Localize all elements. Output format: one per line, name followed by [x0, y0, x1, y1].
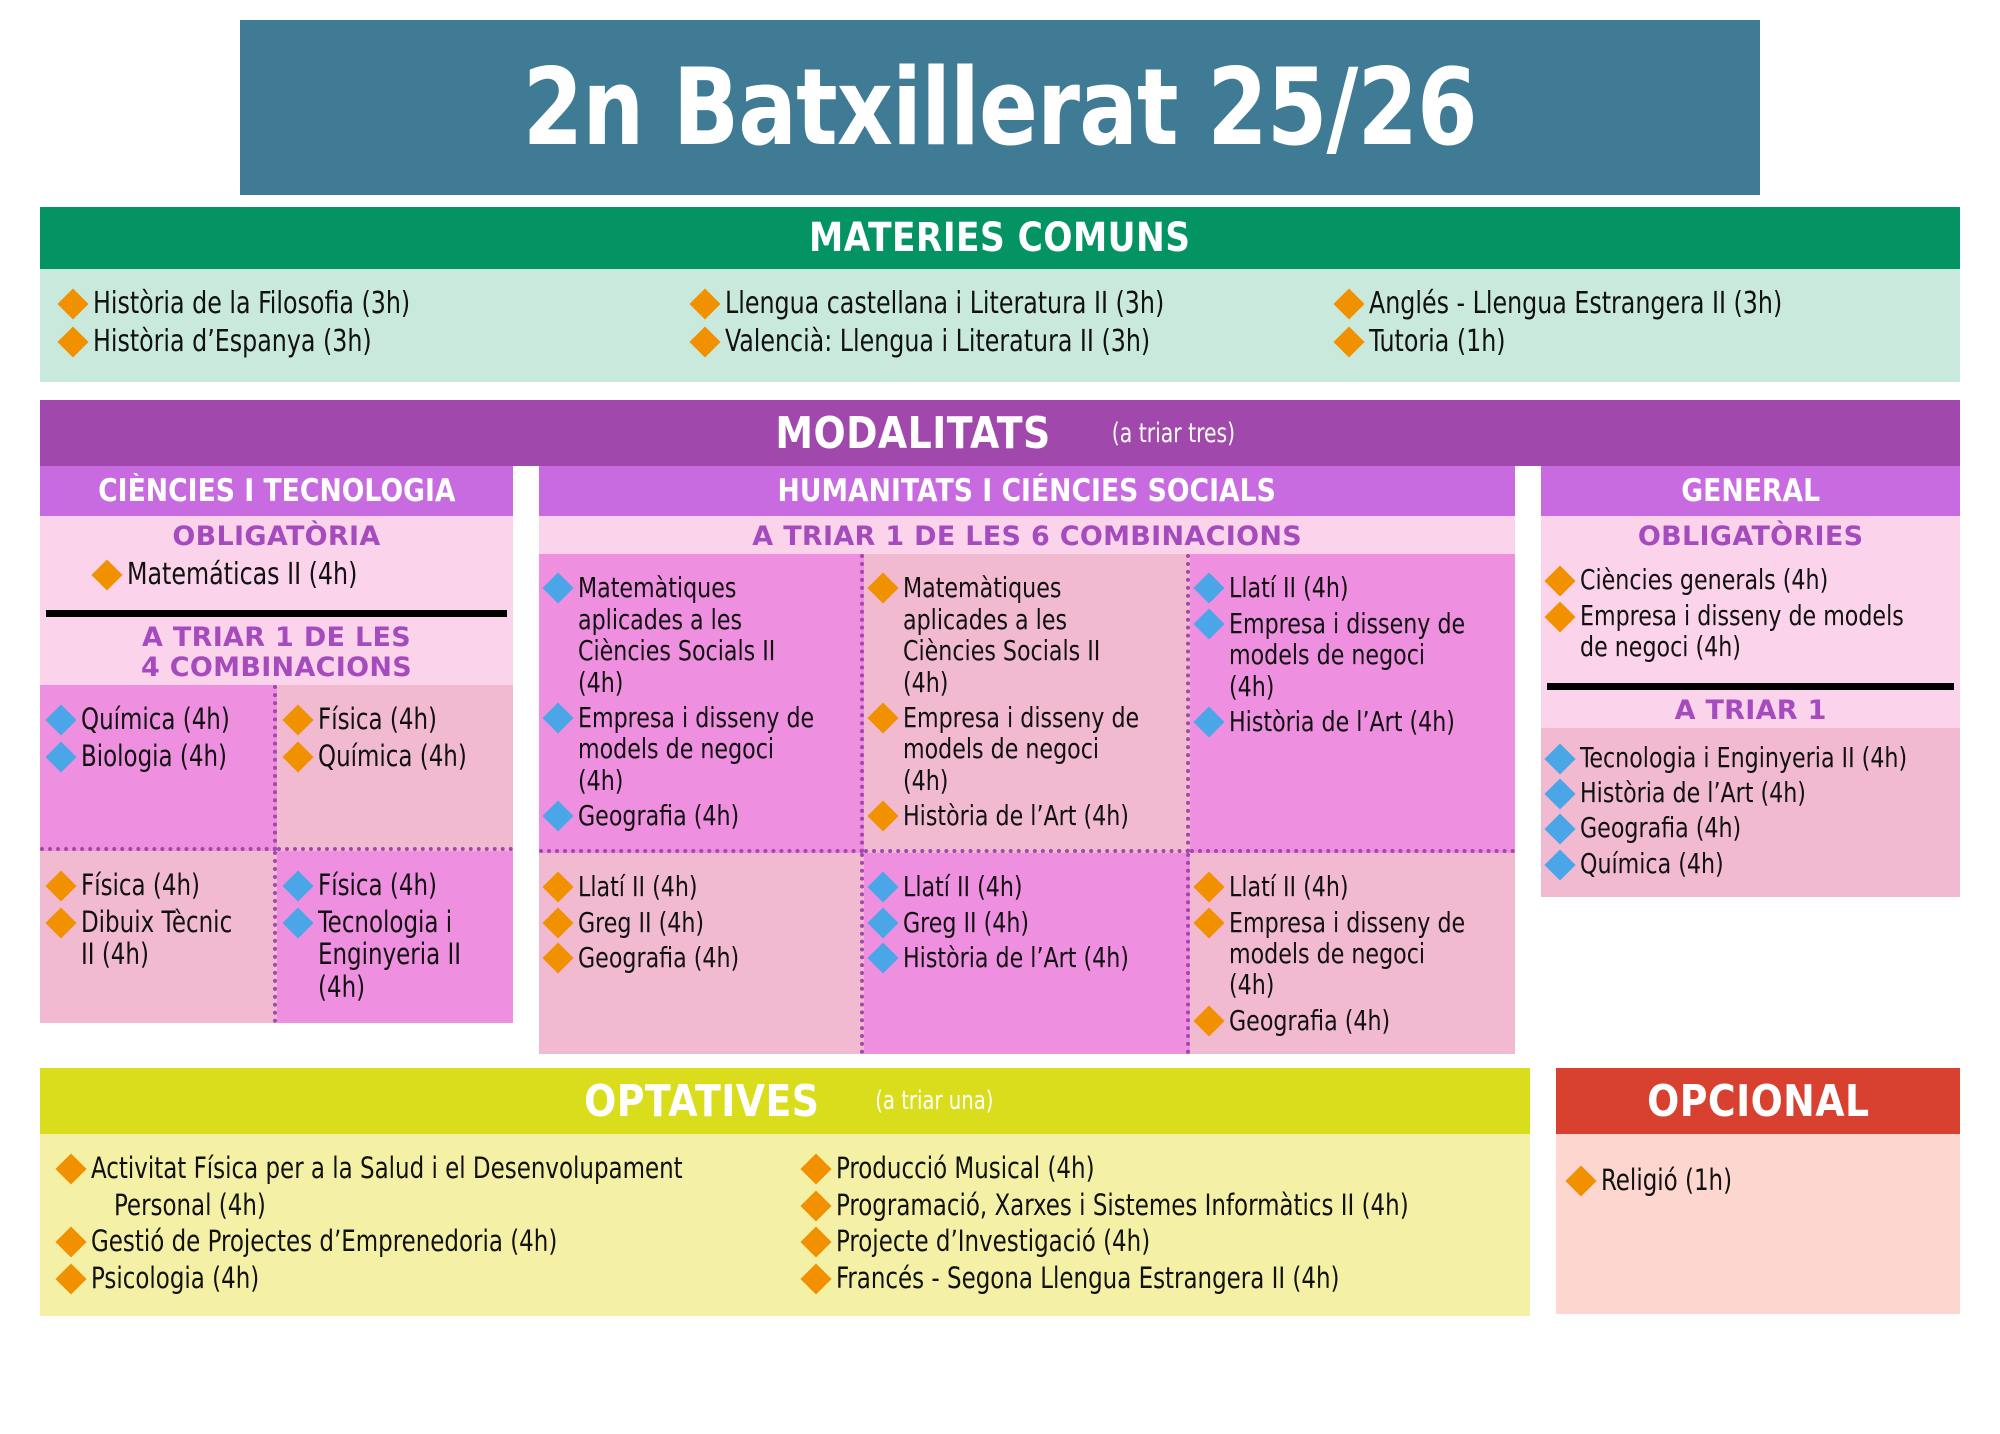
list-item: Història de l’Art (4h) [1198, 706, 1505, 737]
diamond-bullet-icon [868, 942, 899, 973]
diamond-bullet-icon [542, 702, 573, 733]
list-item: Biologia (4h) [50, 740, 265, 772]
list-item: Química (4h) [50, 703, 265, 735]
modalitats-columns: CIÈNCIES I TECNOLOGIA OBLIGATÒRIA Matemá… [40, 466, 1960, 1054]
subject-label: Tecnologia i Enginyeria II (4h) [318, 906, 483, 1003]
comuns-column-1: Història de la Filosofia (3h) Història d… [40, 283, 672, 362]
list-item[interactable]: Programació, Xarxes i Sistemes Informàti… [805, 1189, 1530, 1221]
optatives-box: OPTATIVES (a triar una) Activitat Física… [40, 1068, 1530, 1316]
diamond-bullet-icon [1193, 907, 1224, 938]
humanitats-pane: A TRIAR 1 DE LES 6 COMBINACIONS [539, 516, 1515, 554]
humanitats-heading: HUMANITATS I CIÉNCIES SOCIALS [778, 473, 1276, 509]
diamond-bullet-icon [1333, 326, 1364, 357]
subject-label: Física (4h) [318, 703, 437, 735]
optatives-column-1: Activitat Física per a la Salud i el Des… [40, 1148, 785, 1298]
optatives-banner: OPTATIVES (a triar una) [40, 1068, 1530, 1134]
diamond-bullet-icon [800, 1190, 831, 1221]
subject-label: Anglés - Llengua Estrangera II (3h) [1369, 287, 1782, 321]
general-heading: GENERAL [1681, 473, 1820, 509]
list-item: Matemàtiques aplicades a les Ciències So… [547, 572, 850, 697]
combination-cell[interactable]: Llatí II (4h) Greg II (4h) Història de l… [864, 853, 1189, 1054]
optatives-subtitle: (a triar una) [876, 1086, 994, 1116]
page-title-bar: 2n Batxillerat 25/26 [240, 20, 1760, 195]
humanitats-combinations-grid: Matemàtiques aplicades a les Ciències So… [539, 554, 1515, 1054]
diamond-bullet-icon [1193, 573, 1224, 604]
list-item: Història de la Filosofia (3h) [62, 287, 672, 321]
subject-label: Matemàtiques aplicades a les Ciències So… [578, 572, 818, 697]
diamond-bullet-icon [868, 800, 899, 831]
general-choices-list[interactable]: Tecnologia i Enginyeria II (4h) Història… [1541, 728, 1960, 897]
diamond-bullet-icon [800, 1263, 831, 1294]
subject-label: Història de l’Art (4h) [903, 800, 1129, 831]
diamond-bullet-icon [45, 741, 76, 772]
subject-label: Geografia (4h) [578, 800, 739, 831]
opcional-body: Religió (1h) [1556, 1134, 1960, 1314]
general-choose-label: A TRIAR 1 [1541, 690, 1960, 728]
diamond-bullet-icon [1545, 814, 1576, 845]
subject-label: Psicologia (4h) [91, 1262, 259, 1294]
modalitats-banner: MODALITATS (a triar tres) [40, 400, 1960, 466]
diamond-bullet-icon [45, 907, 76, 938]
diamond-bullet-icon [45, 871, 76, 902]
subject-label: Dibuix Tècnic II (4h) [81, 906, 242, 971]
diamond-bullet-icon [1545, 743, 1576, 774]
subject-label: Greg II (4h) [578, 907, 704, 938]
diamond-bullet-icon [282, 741, 313, 772]
subject-label: Biologia (4h) [81, 740, 227, 772]
list-item: Química (4h) [1549, 848, 1952, 879]
list-item: Química (4h) [287, 740, 506, 772]
subject-label: Empresa i disseny de models de negoci (4… [1229, 608, 1472, 702]
comuns-column-3: Anglés - Llengua Estrangera II (3h) Tuto… [1316, 283, 1960, 362]
general-obligatories-label: OBLIGATÒRIES [1541, 516, 1960, 554]
modalitats-subtitle: (a triar tres) [1111, 418, 1234, 449]
subject-label: Francés - Segona Llengua Estrangera II (… [836, 1262, 1339, 1294]
ciencies-obligatoria-list: Matemáticas II (4h) [40, 558, 513, 604]
list-item-continuation: Personal (4h) [60, 1189, 785, 1221]
diamond-bullet-icon [1545, 779, 1576, 810]
ciencies-choose-label: A TRIAR 1 DE LES 4 COMBINACIONS [40, 617, 513, 685]
column-humanitats-ciencies-socials: HUMANITATS I CIÉNCIES SOCIALS A TRIAR 1 … [539, 466, 1515, 1054]
list-item[interactable]: Gestió de Projectes d’Emprenedoria (4h) [60, 1225, 785, 1257]
choose-label-line-1: A TRIAR 1 DE LES [40, 623, 513, 653]
subject-label: Gestió de Projectes d’Emprenedoria (4h) [91, 1225, 557, 1257]
subject-label: Empresa i disseny de models de negoci (4… [1580, 600, 1907, 663]
diamond-bullet-icon [1545, 601, 1576, 632]
diamond-bullet-icon [1545, 566, 1576, 597]
subject-label: Valencià: Llengua i Literatura II (3h) [725, 325, 1150, 359]
comuns-column-2: Llengua castellana i Literatura II (3h) … [672, 283, 1316, 362]
subject-label: Programació, Xarxes i Sistemes Informàti… [836, 1189, 1409, 1221]
general-pane: OBLIGATÒRIES Ciències generals (4h) Empr… [1541, 516, 1960, 728]
diamond-bullet-icon [1193, 608, 1224, 639]
list-item: Empresa i disseny de models de negoci (4… [1198, 907, 1505, 1001]
subject-label: Geografia (4h) [1580, 812, 1741, 843]
list-item: Ciències generals (4h) [1549, 564, 1952, 595]
subject-label: Història de l’Art (4h) [1580, 777, 1806, 808]
list-item: Greg II (4h) [547, 907, 850, 938]
subject-label: Matemàtiques aplicades a les Ciències So… [903, 572, 1143, 697]
optatives-heading: OPTATIVES [584, 1076, 819, 1127]
combination-cell[interactable]: Matemàtiques aplicades a les Ciències So… [539, 554, 864, 853]
infographic-page: 2n Batxillerat 25/26 MATERIES COMUNS His… [0, 20, 2000, 1434]
ciencies-heading: CIÈNCIES I TECNOLOGIA [98, 473, 455, 509]
subject-label: Física (4h) [318, 869, 437, 901]
list-item[interactable]: Francés - Segona Llengua Estrangera II (… [805, 1262, 1530, 1294]
list-item: Llatí II (4h) [1198, 871, 1505, 902]
subject-label: Religió (1h) [1601, 1164, 1732, 1196]
subject-label: Història de l’Art (4h) [1229, 706, 1455, 737]
subject-label: Matemáticas II (4h) [127, 558, 357, 592]
ciencies-heading-bar: CIÈNCIES I TECNOLOGIA [40, 466, 513, 516]
list-item: Empresa i disseny de models de negoci (4… [1549, 600, 1952, 663]
subject-label: Activitat Física per a la Salud i el Des… [91, 1152, 683, 1184]
combination-cell[interactable]: Física (4h) Tecnologia i Enginyeria II (… [277, 851, 514, 1023]
list-item: Història de l’Art (4h) [1549, 777, 1952, 808]
opcional-banner: OPCIONAL [1556, 1068, 1960, 1134]
list-item: Anglés - Llengua Estrangera II (3h) [1338, 287, 1960, 321]
list-item[interactable]: Projecte d’Investigació (4h) [805, 1225, 1530, 1257]
subject-label: Geografia (4h) [1229, 1005, 1390, 1036]
combination-cell[interactable]: Física (4h) Dibuix Tècnic II (4h) [40, 851, 277, 1023]
subject-label: Projecte d’Investigació (4h) [836, 1225, 1150, 1257]
list-item: Tutoria (1h) [1338, 325, 1960, 359]
list-item: Història de l’Art (4h) [872, 800, 1175, 831]
diamond-bullet-icon [1193, 1005, 1224, 1036]
diamond-bullet-icon [542, 573, 573, 604]
list-item: Geografia (4h) [547, 942, 850, 973]
diamond-bullet-icon [868, 907, 899, 938]
divider [46, 610, 507, 617]
list-item: Llengua castellana i Literatura II (3h) [694, 287, 1316, 321]
list-item: Història de l’Art (4h) [872, 942, 1175, 973]
diamond-bullet-icon [1545, 849, 1576, 880]
list-item: Història d’Espanya (3h) [62, 325, 672, 359]
diamond-bullet-icon [1193, 872, 1224, 903]
subject-label: Història de la Filosofia (3h) [93, 287, 410, 321]
list-item: Llatí II (4h) [547, 871, 850, 902]
list-item: Física (4h) [287, 703, 506, 735]
list-item: Geografia (4h) [547, 800, 850, 831]
list-item: Dibuix Tècnic II (4h) [50, 906, 265, 971]
diamond-bullet-icon [55, 1263, 86, 1294]
subject-label: Geografia (4h) [578, 942, 739, 973]
list-item: Física (4h) [50, 869, 265, 901]
diamond-bullet-icon [868, 702, 899, 733]
diamond-bullet-icon [542, 907, 573, 938]
diamond-bullet-icon [282, 871, 313, 902]
ciencies-pane: OBLIGATÒRIA Matemáticas II (4h) A TRIAR … [40, 516, 513, 685]
subject-label: Llatí II (4h) [903, 871, 1023, 902]
diamond-bullet-icon [542, 872, 573, 903]
list-item: Tecnologia i Enginyeria II (4h) [287, 906, 506, 1003]
combination-cell[interactable]: Matemàtiques aplicades a les Ciències So… [864, 554, 1189, 853]
combination-cell[interactable]: Llatí II (4h) Empresa i disseny de model… [1190, 853, 1515, 1054]
subject-label: Tutoria (1h) [1369, 325, 1506, 359]
column-ciencies-tecnologia: CIÈNCIES I TECNOLOGIA OBLIGATÒRIA Matemá… [40, 466, 513, 1054]
diamond-bullet-icon [91, 560, 122, 591]
diamond-bullet-icon [1193, 706, 1224, 737]
diamond-bullet-icon [282, 705, 313, 736]
diamond-bullet-icon [800, 1226, 831, 1257]
diamond-bullet-icon [1565, 1166, 1596, 1197]
subject-label: Producció Musical (4h) [836, 1152, 1095, 1184]
bottom-row: OPTATIVES (a triar una) Activitat Física… [40, 1068, 1960, 1316]
diamond-bullet-icon [542, 800, 573, 831]
modalitats-heading: MODALITATS [776, 408, 1051, 459]
diamond-bullet-icon [689, 288, 720, 319]
list-item[interactable]: Psicologia (4h) [60, 1262, 785, 1294]
diamond-bullet-icon [282, 907, 313, 938]
diamond-bullet-icon [57, 326, 88, 357]
subject-label: Llatí II (4h) [578, 871, 698, 902]
list-item: Tecnologia i Enginyeria II (4h) [1549, 742, 1952, 773]
list-item: Greg II (4h) [872, 907, 1175, 938]
optatives-column-2: Producció Musical (4h) Programació, Xarx… [785, 1148, 1530, 1298]
diamond-bullet-icon [57, 288, 88, 319]
subject-label: Llatí II (4h) [1229, 572, 1349, 603]
list-item[interactable]: Activitat Física per a la Salud i el Des… [60, 1152, 785, 1184]
combination-cell[interactable]: Química (4h) Biologia (4h) [40, 685, 277, 851]
list-item[interactable]: Producció Musical (4h) [805, 1152, 1530, 1184]
column-general: GENERAL OBLIGATÒRIES Ciències generals (… [1541, 466, 1960, 1054]
combination-cell[interactable]: Física (4h) Química (4h) [277, 685, 514, 851]
subject-label: Empresa i disseny de models de negoci (4… [1229, 907, 1472, 1001]
subject-label: Química (4h) [1580, 848, 1724, 879]
list-item: Física (4h) [287, 869, 506, 901]
page-title: 2n Batxillerat 25/26 [523, 46, 1477, 169]
diamond-bullet-icon [868, 573, 899, 604]
subject-label: Tecnologia i Enginyeria II (4h) [1580, 742, 1907, 773]
list-item: Llatí II (4h) [872, 871, 1175, 902]
choose-label-line-2: 4 COMBINACIONS [40, 653, 513, 683]
list-item[interactable]: Religió (1h) [1570, 1164, 1960, 1196]
subject-label: Química (4h) [318, 740, 467, 772]
list-item: Matemàtiques aplicades a les Ciències So… [872, 572, 1175, 697]
diamond-bullet-icon [868, 872, 899, 903]
diamond-bullet-icon [800, 1154, 831, 1185]
opcional-heading: OPCIONAL [1647, 1076, 1869, 1127]
diamond-bullet-icon [55, 1226, 86, 1257]
subject-label: Història de l’Art (4h) [903, 942, 1129, 973]
diamond-bullet-icon [689, 326, 720, 357]
comuns-heading: MATERIES COMUNS [809, 215, 1190, 261]
list-item: Geografia (4h) [1549, 812, 1952, 843]
subject-label: Greg II (4h) [903, 907, 1029, 938]
optatives-body: Activitat Física per a la Salud i el Des… [40, 1134, 1530, 1316]
list-item: Empresa i disseny de models de negoci (4… [872, 702, 1175, 796]
diamond-bullet-icon [45, 705, 76, 736]
subject-label: Història d’Espanya (3h) [93, 325, 372, 359]
ciencies-obligatoria-label: OBLIGATÒRIA [40, 516, 513, 554]
list-item: Geografia (4h) [1198, 1005, 1505, 1036]
subject-label: Química (4h) [81, 703, 230, 735]
opcional-box: OPCIONAL Religió (1h) [1556, 1068, 1960, 1314]
diamond-bullet-icon [55, 1154, 86, 1185]
subject-label: Personal (4h) [114, 1189, 266, 1221]
subject-label: Física (4h) [81, 869, 200, 901]
ciencies-combinations-grid: Química (4h) Biologia (4h) Física (4h) Q… [40, 685, 513, 1023]
subject-label: Llengua castellana i Literatura II (3h) [725, 287, 1164, 321]
subject-label: Empresa i disseny de models de negoci (4… [903, 702, 1143, 796]
diamond-bullet-icon [1333, 288, 1364, 319]
general-heading-bar: GENERAL [1541, 466, 1960, 516]
humanitats-heading-bar: HUMANITATS I CIÉNCIES SOCIALS [539, 466, 1515, 516]
list-item: Empresa i disseny de models de negoci (4… [547, 702, 850, 796]
humanitats-choose-label: A TRIAR 1 DE LES 6 COMBINACIONS [539, 516, 1515, 554]
subject-label: Ciències generals (4h) [1580, 564, 1828, 595]
combination-cell[interactable]: Llatí II (4h) Empresa i disseny de model… [1190, 554, 1515, 853]
list-item: Valencià: Llengua i Literatura II (3h) [694, 325, 1316, 359]
general-obligatories-list: Ciències generals (4h) Empresa i disseny… [1541, 554, 1960, 676]
list-item: Empresa i disseny de models de negoci (4… [1198, 608, 1505, 702]
list-item: Matemáticas II (4h) [96, 558, 503, 592]
list-item: Llatí II (4h) [1198, 572, 1505, 603]
subject-label: Llatí II (4h) [1229, 871, 1349, 902]
comuns-banner: MATERIES COMUNS [40, 207, 1960, 269]
combination-cell[interactable]: Llatí II (4h) Greg II (4h) Geografia (4h… [539, 853, 864, 1054]
subject-label: Empresa i disseny de models de negoci (4… [578, 702, 818, 796]
divider [1547, 683, 1954, 690]
diamond-bullet-icon [542, 942, 573, 973]
comuns-body: Història de la Filosofia (3h) Història d… [40, 269, 1960, 382]
